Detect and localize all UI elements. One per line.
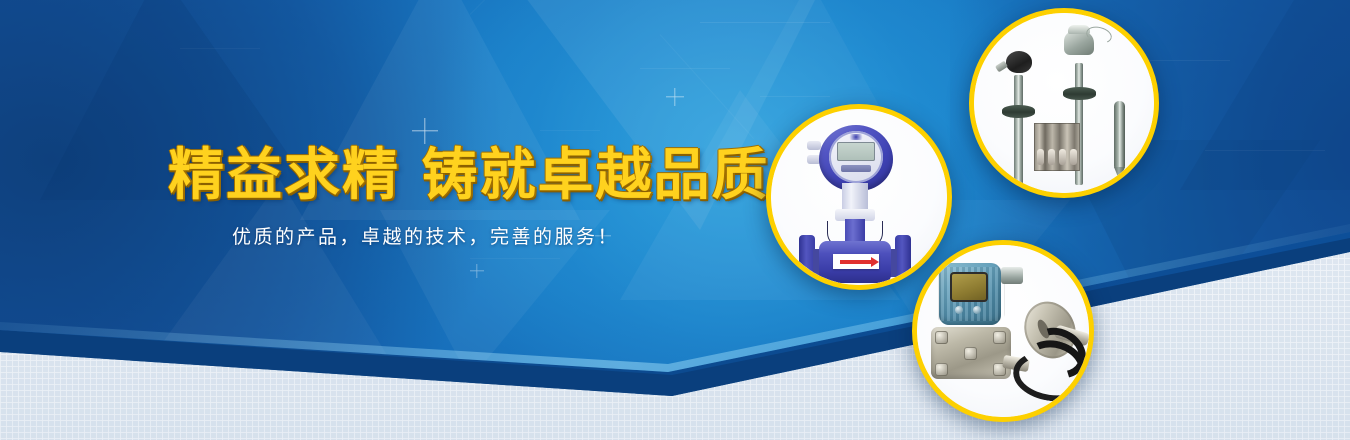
promo-banner: 精益求精 铸就卓越品质 优质的产品，卓越的技术，完善的服务！ <box>0 0 1350 440</box>
flowmeter-flange-right <box>895 235 911 285</box>
probe-left-head <box>1006 51 1032 73</box>
probe-left-flange-disc <box>1002 105 1035 118</box>
manifold-bolt <box>935 331 948 344</box>
flowmeter-side-port-upper <box>807 141 821 150</box>
probe-right-small <box>1114 101 1125 171</box>
transmitter-button-right <box>973 306 981 314</box>
thermocouple-illustration <box>974 13 1154 193</box>
pressure-transmitter-photo <box>917 245 1089 417</box>
flowmeter-lcd-display <box>837 142 875 161</box>
flowmeter-direction-label <box>833 254 879 269</box>
flowmeter-brand-logo <box>847 134 865 140</box>
manifold-bolt <box>935 363 948 376</box>
thermocouple-photo <box>974 13 1154 193</box>
probe-tips-inset-photo <box>1034 123 1080 171</box>
flow-direction-arrow-icon <box>840 260 872 264</box>
page-subtitle: 优质的产品，卓越的技术，完善的服务！ <box>232 222 619 249</box>
transmitter-conduit-port <box>1001 267 1023 284</box>
page-title: 精益求精 铸就卓越品质 <box>168 146 770 206</box>
product-circle-pressure-transmitter[interactable] <box>912 240 1094 422</box>
probe-center-flange-disc <box>1063 87 1096 100</box>
manifold-bolt <box>964 347 977 360</box>
probe-left-shaft <box>1014 75 1023 191</box>
transmitter-display-window <box>950 272 988 302</box>
flowmeter-keypad <box>841 165 871 172</box>
product-circle-thermocouple[interactable] <box>969 8 1159 198</box>
transmitter-button-left <box>955 306 963 314</box>
pressure-transmitter-illustration <box>917 245 1089 417</box>
manifold-bolt <box>993 331 1006 344</box>
flowmeter-stem <box>845 219 865 243</box>
